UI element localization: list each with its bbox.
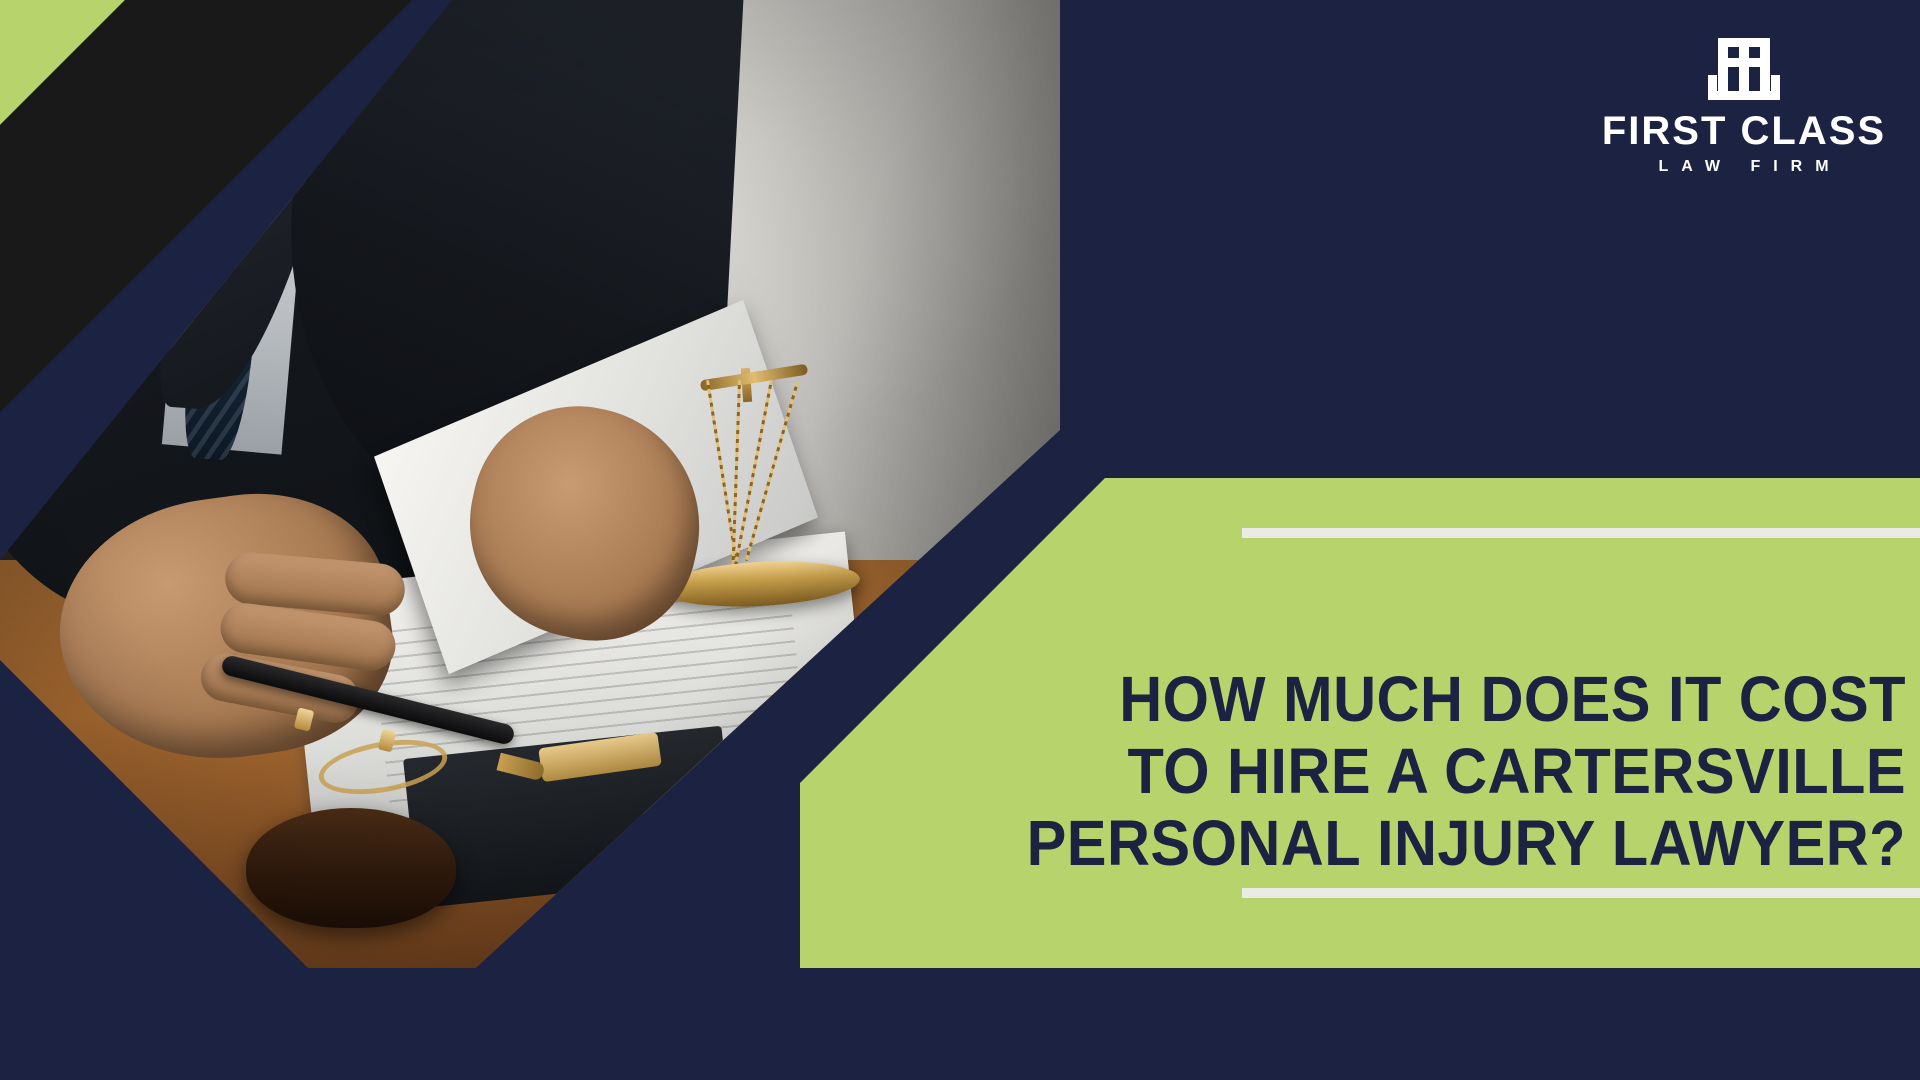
- decorative-rule-top: [1242, 528, 1920, 538]
- first-class-f-monogram-icon: [1594, 30, 1894, 108]
- hero-banner: HOW MUCH DOES IT COST TO HIRE A CARTERSV…: [0, 0, 1920, 1080]
- bottom-navy-bar: [0, 968, 1920, 1080]
- brand-tagline: LAW FIRM: [1594, 154, 1894, 180]
- page-title: HOW MUCH DOES IT COST TO HIRE A CARTERSV…: [840, 663, 1906, 879]
- brand-name: FIRST CLASS: [1594, 108, 1894, 154]
- brand-logo[interactable]: FIRST CLASS LAW FIRM: [1594, 30, 1894, 180]
- decorative-rule-bottom: [1242, 888, 1920, 898]
